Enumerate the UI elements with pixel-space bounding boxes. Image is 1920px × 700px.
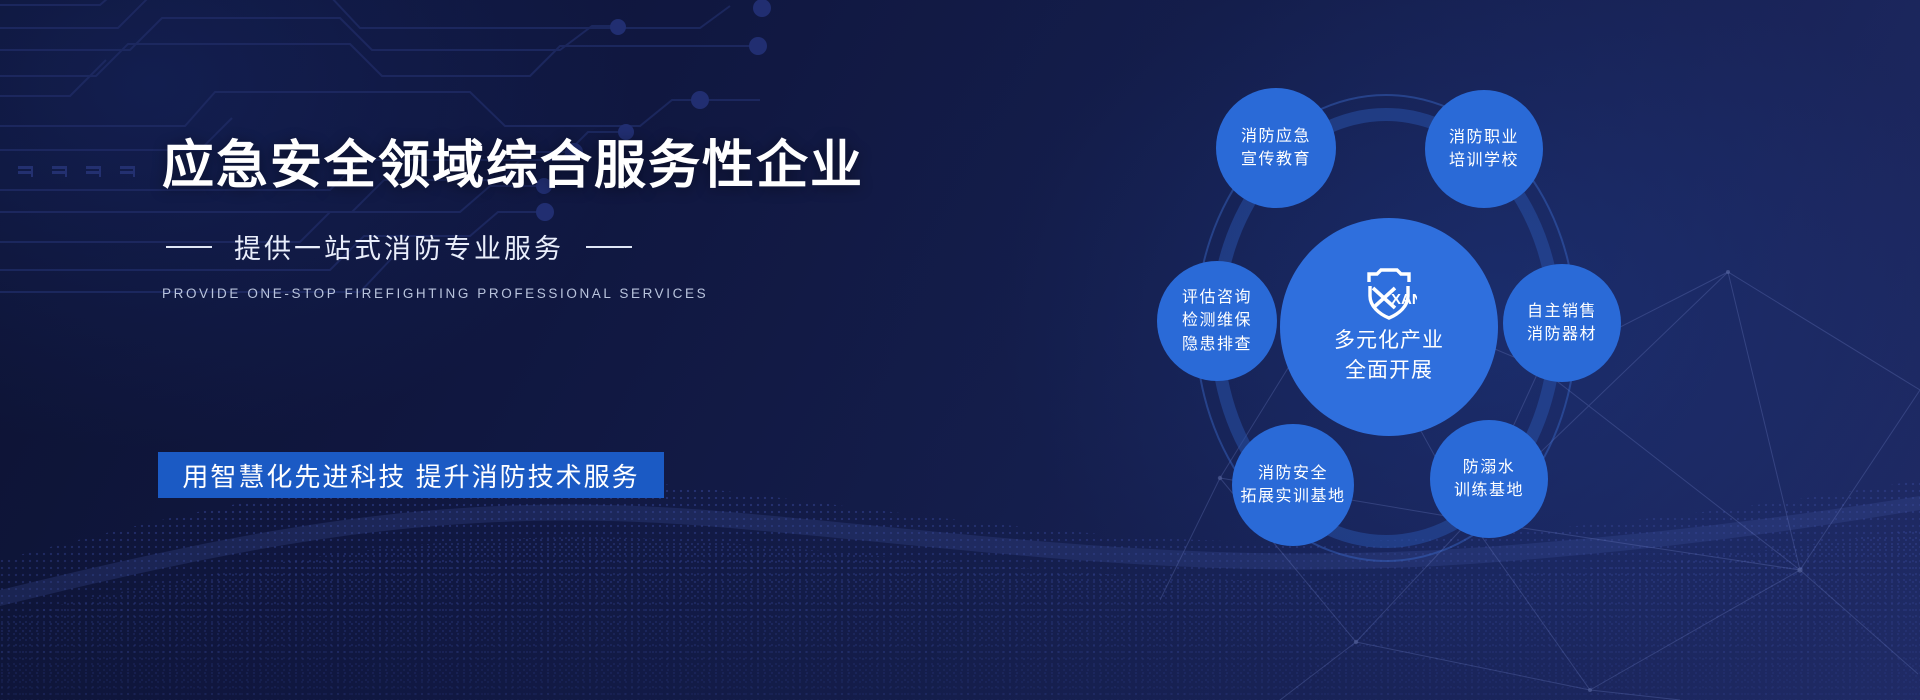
rule-left-icon [166, 246, 212, 248]
node-line-2: 消防器材 [1527, 323, 1597, 346]
shield-logo-icon: XAN [1361, 268, 1417, 320]
cta-label: 用智慧化先进科技 提升消防技术服务 [182, 457, 639, 494]
subheadline-row: 提供一站式消防专业服务 [162, 227, 922, 266]
diagram-node-left[interactable]: 评估咨询 检测维保 隐患排查 [1157, 261, 1277, 381]
node-line-1: 自主销售 [1527, 300, 1597, 323]
node-line-2: 培训学校 [1449, 149, 1519, 172]
rule-right-icon [586, 246, 632, 248]
page-title: 应急安全领域综合服务性企业 [162, 138, 922, 195]
headline-block: 应急安全领域综合服务性企业 提供一站式消防专业服务 PROVIDE ONE-ST… [162, 138, 922, 301]
subheadline: 提供一站式消防专业服务 [234, 227, 564, 266]
node-line-2: 训练基地 [1454, 479, 1524, 502]
diagram-node-top-left[interactable]: 消防应急 宣传教育 [1216, 88, 1336, 208]
center-line-1: 多元化产业 [1334, 326, 1444, 356]
node-line-2: 检测维保 [1182, 309, 1252, 332]
diagram-center-node[interactable]: XAN 多元化产业 全面开展 [1280, 218, 1498, 436]
diagram-node-bottom-left[interactable]: 消防安全 拓展实训基地 [1232, 424, 1354, 546]
services-circle-diagram: XAN 多元化产业 全面开展 消防应急 宣传教育 消防职业 培训学校 评估咨询 … [1100, 88, 1800, 608]
diagram-node-bottom-right[interactable]: 防溺水 训练基地 [1430, 420, 1548, 538]
node-line-1: 消防安全 [1258, 462, 1328, 485]
node-line-1: 评估咨询 [1182, 286, 1252, 309]
node-line-1: 消防职业 [1449, 126, 1519, 149]
diagram-node-right[interactable]: 自主销售 消防器材 [1503, 264, 1621, 382]
hero-banner: 应急安全领域综合服务性企业 提供一站式消防专业服务 PROVIDE ONE-ST… [0, 0, 1920, 700]
node-line-1: 消防应急 [1241, 125, 1311, 148]
english-tagline: PROVIDE ONE-STOP FIREFIGHTING PROFESSION… [162, 286, 922, 301]
center-line-2: 全面开展 [1345, 356, 1433, 386]
svg-text:XAN: XAN [1391, 291, 1417, 308]
node-line-2: 拓展实训基地 [1240, 485, 1345, 508]
dash-marks-decoration [18, 166, 135, 177]
cta-banner-button[interactable]: 用智慧化先进科技 提升消防技术服务 [158, 452, 664, 498]
diagram-node-top-right[interactable]: 消防职业 培训学校 [1425, 90, 1543, 208]
node-line-3: 隐患排查 [1182, 333, 1252, 356]
node-line-1: 防溺水 [1463, 456, 1516, 479]
node-line-2: 宣传教育 [1241, 148, 1311, 171]
